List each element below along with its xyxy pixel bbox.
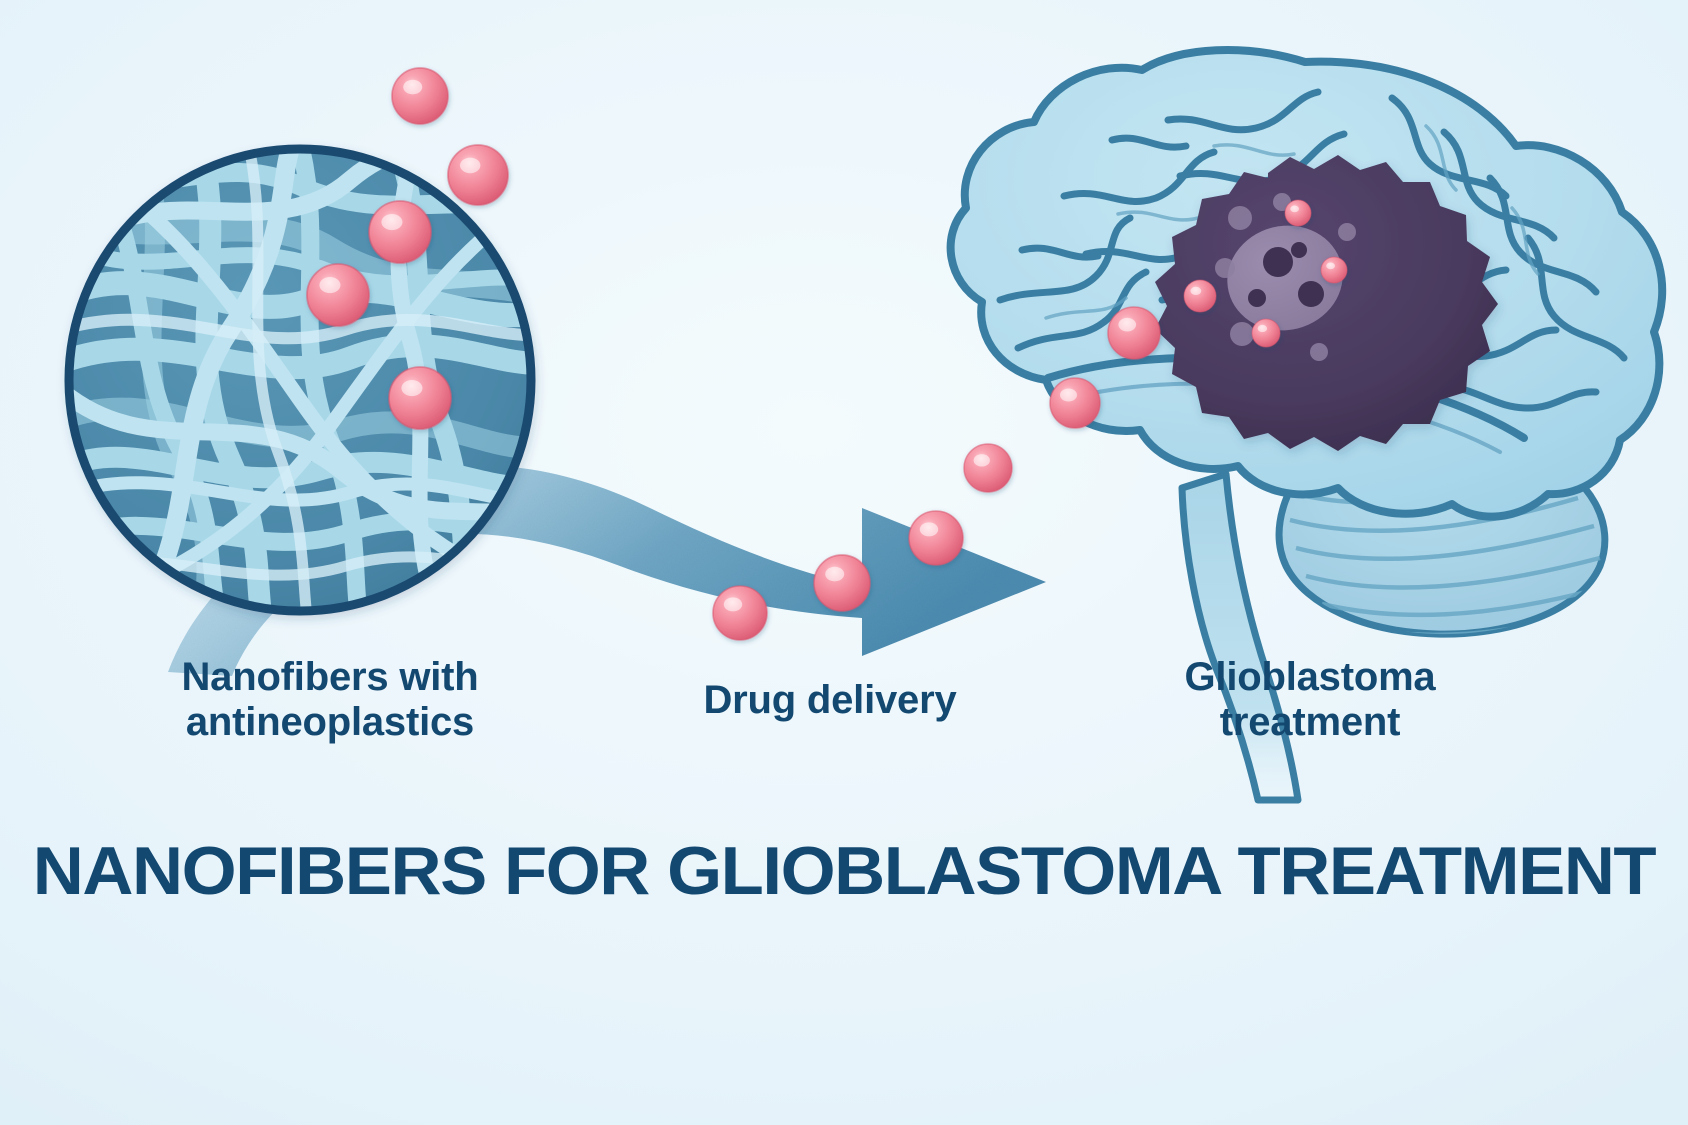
specular-highlight [825, 567, 844, 582]
specular-highlight [974, 454, 990, 466]
specular-highlight [1060, 389, 1077, 402]
specular-highlight [401, 380, 422, 396]
label-drug-delivery: Drug delivery [620, 678, 1040, 723]
specular-highlight [1326, 262, 1335, 269]
drug-particle [814, 555, 870, 611]
drug-particle [392, 68, 448, 124]
specular-highlight [460, 158, 480, 174]
specular-highlight [1258, 325, 1268, 332]
specular-highlight [381, 214, 402, 230]
label-nanofibers-with-antineoplastics: Nanofibers with antineoplastics [60, 655, 600, 745]
specular-highlight [1190, 287, 1201, 295]
drug-particle [1050, 378, 1100, 428]
specular-highlight [1118, 318, 1136, 332]
illustration-canvas [0, 0, 1688, 1125]
drug-particle [307, 264, 369, 326]
drug-particle [1184, 280, 1216, 312]
specular-highlight [1290, 205, 1299, 212]
drug-particle [448, 145, 508, 205]
infographic-root: Nanofibers with antineoplastics Drug del… [0, 0, 1688, 1125]
label-glioblastoma-treatment: Glioblastoma treatment [1090, 655, 1530, 745]
drug-particle [1108, 307, 1160, 359]
page-title: NANOFIBERS FOR GLIOBLASTOMA TREATMENT [0, 832, 1688, 910]
specular-highlight [319, 277, 340, 293]
drug-particle [369, 201, 431, 263]
drug-particle [1321, 257, 1347, 283]
specular-highlight [403, 80, 422, 95]
drug-particle [713, 586, 767, 640]
drug-particle [1252, 319, 1280, 347]
drug-particle [964, 444, 1012, 492]
specular-highlight [724, 597, 742, 611]
drug-particle [1285, 200, 1311, 226]
drug-particle [909, 511, 963, 565]
specular-highlight [920, 522, 938, 536]
drug-particle [389, 367, 451, 429]
